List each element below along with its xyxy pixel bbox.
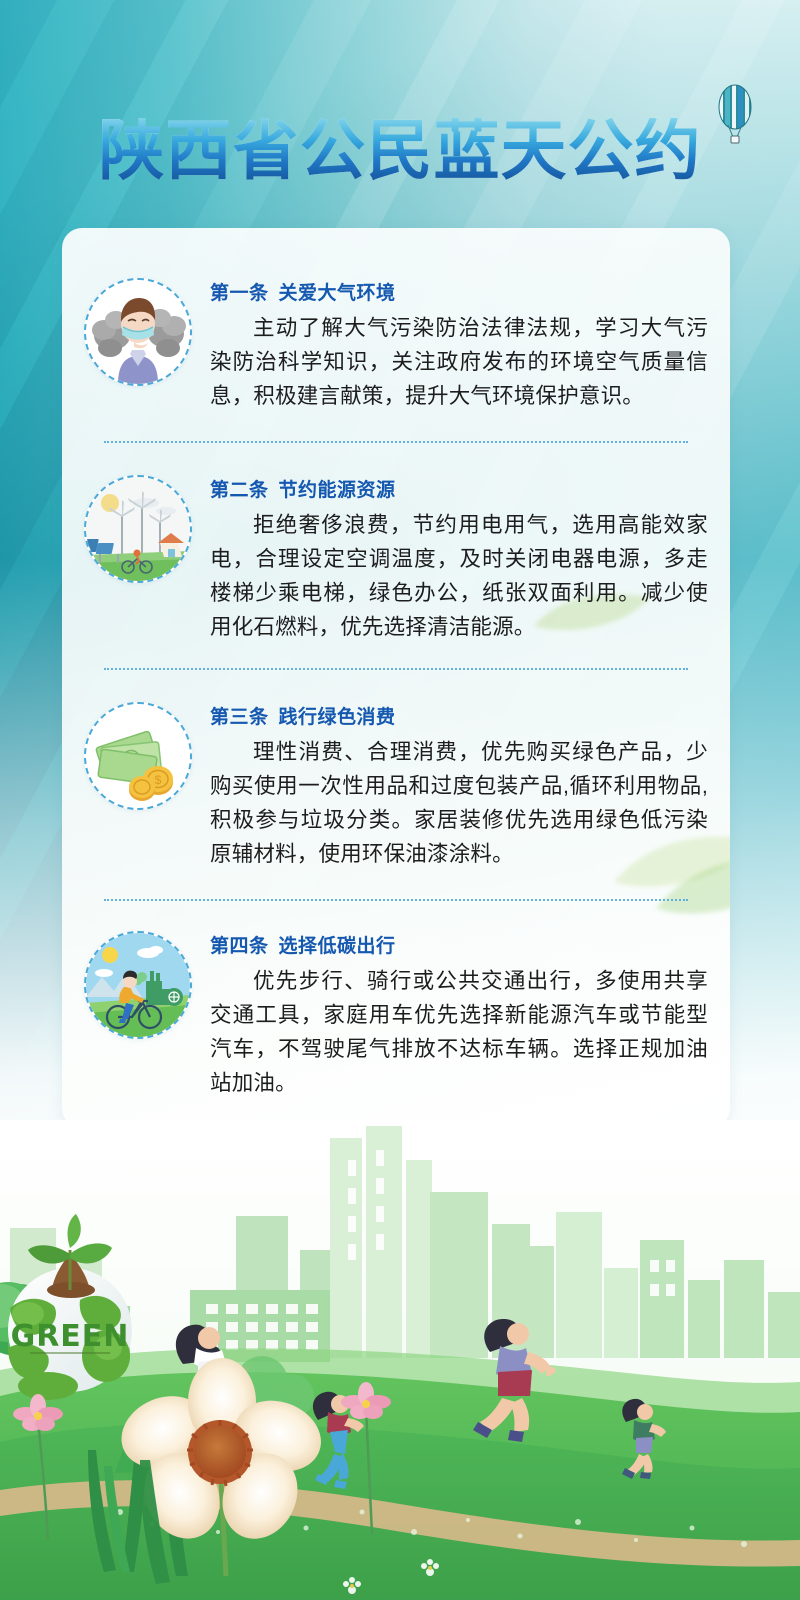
- articles-list: 第一条关爱大气环境 主动了解大气污染防治法律法规，学习大气污染防治科学知识，关注…: [62, 228, 730, 1128]
- article-icon-circle: $ $: [84, 702, 192, 810]
- svg-text:$: $: [155, 773, 162, 787]
- page-title: 陕西省公民蓝天公约: [99, 118, 702, 184]
- article-title: 选择低碳出行: [279, 936, 396, 957]
- article-heading: 第一条关爱大气环境: [210, 278, 708, 305]
- article-heading: 第二条节约能源资源: [210, 475, 708, 502]
- article-item[interactable]: 第一条关爱大气环境 主动了解大气污染防治法律法规，学习大气污染防治科学知识，关注…: [62, 228, 730, 443]
- article-heading: 第三条践行绿色消费: [210, 702, 708, 729]
- article-body: 优先步行、骑行或公共交通出行，多使用共享交通工具，家庭用车优先选择新能源汽车或节…: [210, 964, 708, 1100]
- poster-root: 陕西省公民蓝天公约 陕西省公民蓝天公约: [0, 0, 800, 1600]
- article-body: 拒绝奢侈浪费，节约用电用气，选用高能效家电，合理设定空调温度，及时关闭电器电源，…: [210, 508, 708, 644]
- article-title: 关爱大气环境: [279, 283, 396, 304]
- article-icon-circle: [84, 278, 192, 386]
- article-item[interactable]: 第二条节约能源资源 拒绝奢侈浪费，节约用电用气，选用高能效家电，合理设定空调温度…: [62, 443, 730, 670]
- article-number: 第二条: [210, 480, 269, 501]
- money-and-coins-icon: $ $: [86, 704, 190, 808]
- eco-city-illustration: GREEN: [0, 1120, 800, 1600]
- article-body: 主动了解大气污染防治法律法规，学习大气污染防治科学知识，关注政府发布的环境空气质…: [210, 311, 708, 413]
- article-heading: 第四条选择低碳出行: [210, 931, 708, 958]
- wind-turbine-solar-panel-icon: [86, 477, 190, 581]
- article-item[interactable]: 第四条选择低碳出行 优先步行、骑行或公共交通出行，多使用共享交通工具，家庭用车优…: [62, 901, 730, 1128]
- article-number: 第四条: [210, 936, 269, 957]
- article-number: 第一条: [210, 283, 269, 304]
- globe-green-label: GREEN: [11, 1319, 130, 1354]
- page-title-wrap: 陕西省公民蓝天公约: [0, 118, 800, 184]
- person-with-mask-smog-icon: [86, 280, 190, 384]
- article-title: 节约能源资源: [279, 480, 396, 501]
- bottom-scene: GREEN: [0, 1120, 800, 1600]
- article-title: 践行绿色消费: [279, 707, 396, 728]
- article-icon-circle: [84, 475, 192, 583]
- article-icon-circle: [84, 931, 192, 1039]
- article-number: 第三条: [210, 707, 269, 728]
- article-item[interactable]: $ $: [62, 670, 730, 901]
- cyclist-city-icon: [86, 933, 190, 1037]
- article-body: 理性消费、合理消费，优先购买绿色产品，少购买使用一次性用品和过度包装产品,循环利…: [210, 735, 708, 871]
